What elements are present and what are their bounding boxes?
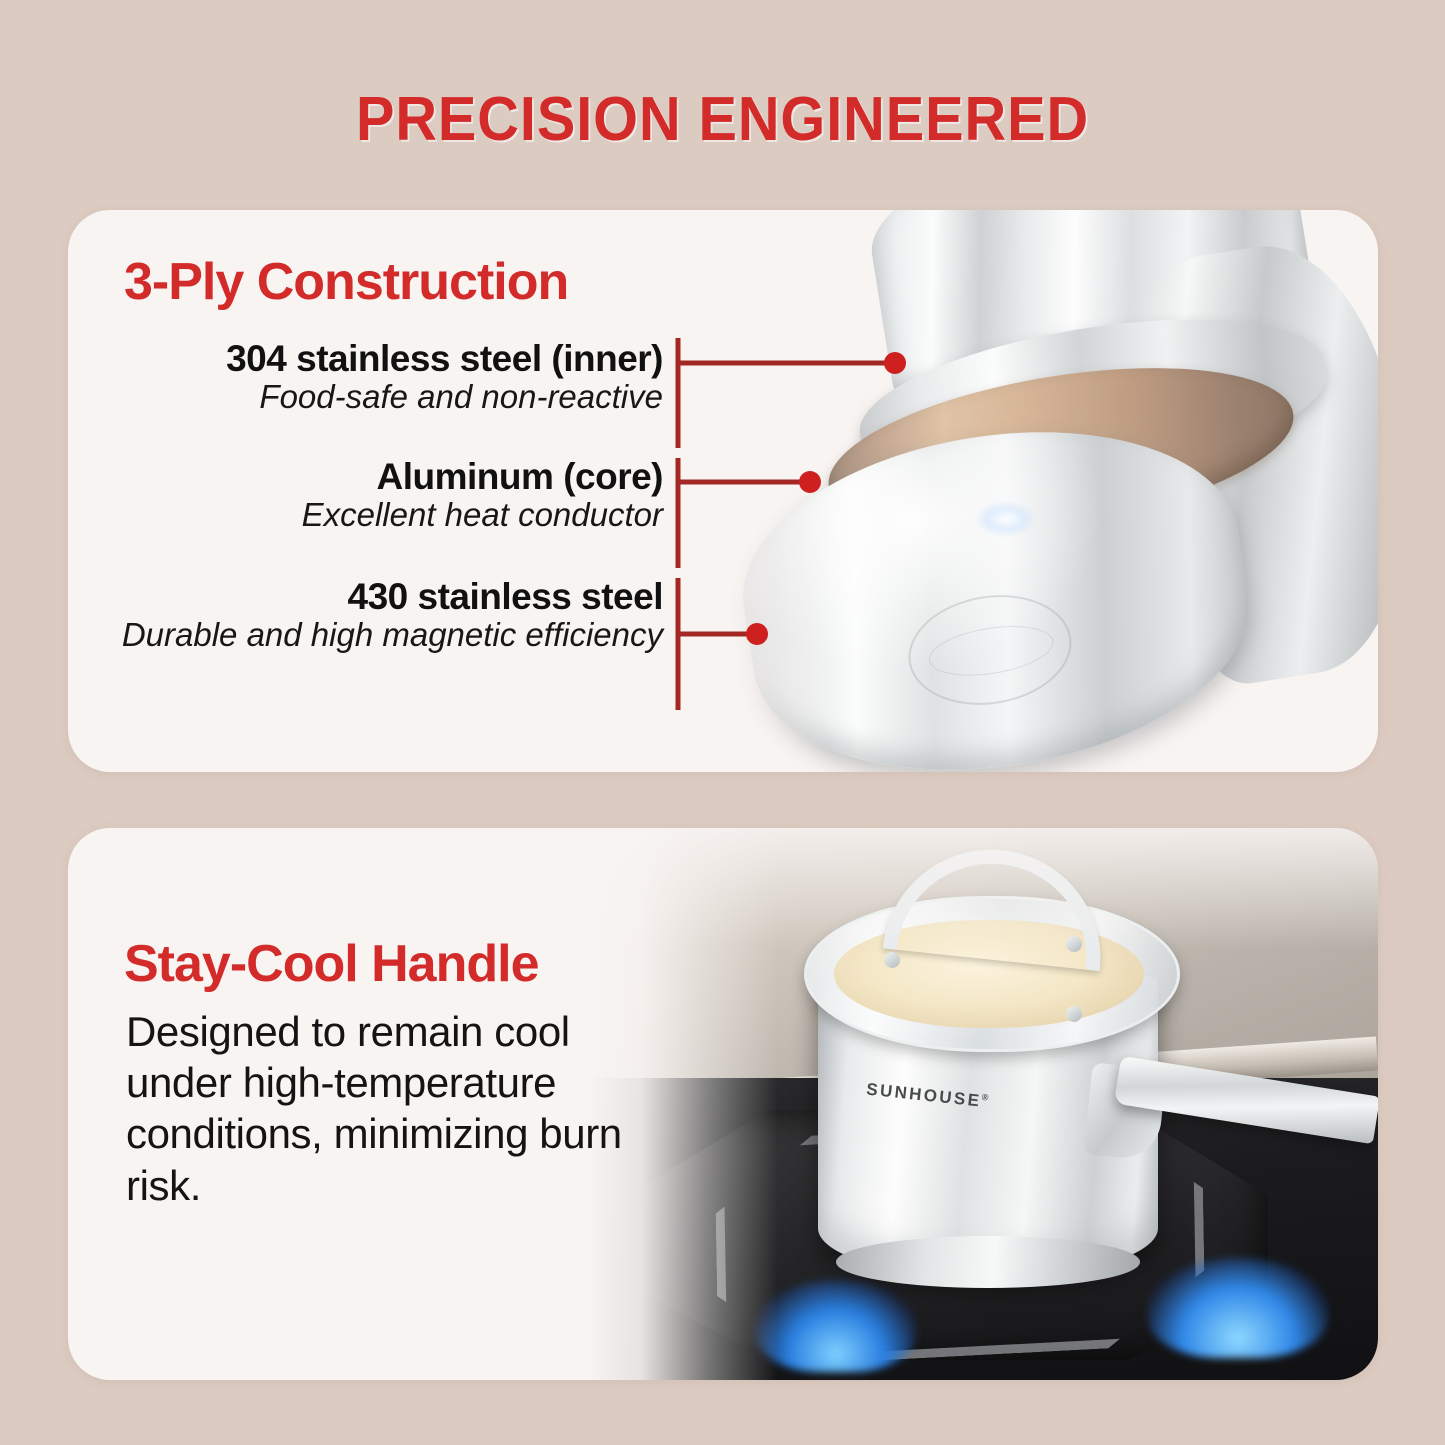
layer-item-430: 430 stainless steel Durable and high mag… — [68, 576, 663, 654]
saucepan-base — [836, 1236, 1140, 1288]
infographic-page: PRECISION ENGINEERED — [0, 0, 1445, 1445]
layer-desc-304: Food-safe and non-reactive — [68, 379, 663, 416]
card-three-ply-construction: 3-Ply Construction 304 stainless steel (… — [68, 210, 1378, 772]
three-ply-base-photo — [708, 210, 1378, 772]
layer-name-430: 430 stainless steel — [68, 576, 663, 617]
card-title-stay-cool: Stay-Cool Handle — [124, 934, 539, 994]
layer-name-304: 304 stainless steel (inner) — [68, 338, 663, 379]
card-title-three-ply: 3-Ply Construction — [124, 252, 568, 312]
layer-name-aluminum: Aluminum (core) — [68, 456, 663, 497]
lid-rivet-left — [884, 952, 900, 968]
card-stay-cool-handle: SUNHOUSE® Stay-Cool Handle Designed to r… — [68, 828, 1378, 1380]
saucepan-on-stove-photo: SUNHOUSE® — [588, 828, 1378, 1380]
gas-flame-right — [1148, 1258, 1328, 1358]
page-title: PRECISION ENGINEERED — [51, 84, 1395, 155]
gas-flame-left — [756, 1280, 916, 1372]
layer-item-aluminum: Aluminum (core) Excellent heat conductor — [68, 456, 663, 534]
lid-rivet-bottom-right — [1066, 1006, 1082, 1022]
layer-desc-aluminum: Excellent heat conductor — [68, 497, 663, 534]
card-body-stay-cool: Designed to remain cool under high-tempe… — [126, 1006, 646, 1211]
photo-left-fade — [708, 210, 828, 772]
brand-registered-symbol: ® — [981, 1092, 991, 1103]
layer-item-304: 304 stainless steel (inner) Food-safe an… — [68, 338, 663, 416]
specular-highlight — [976, 502, 1036, 536]
layer-desc-430: Durable and high magnetic efficiency — [68, 617, 663, 654]
